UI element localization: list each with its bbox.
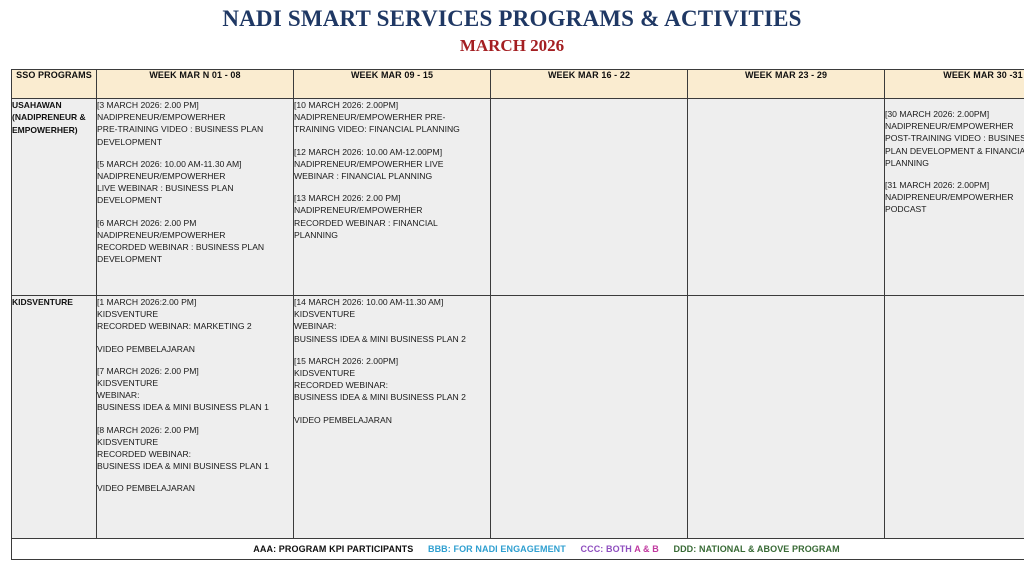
cell-usahawan-week-5: [30 MARCH 2026: 2.00PM] NADIPRENEUR/EMPO… <box>885 99 1024 296</box>
cell-entry: VIDEO PEMBELAJARAN <box>97 482 293 494</box>
page-title: NADI SMART SERVICES PROGRAMS & ACTIVITIE… <box>0 6 1024 32</box>
table-head: SSO PROGRAMS WEEK MAR N 01 - 08 WEEK MAR… <box>12 70 1024 99</box>
row-label-usahawan: USAHAWAN (NADIPRENEUR & EMPOWERHER) <box>12 99 97 296</box>
cell-kidsventure-week-1: [1 MARCH 2026:2.00 PM] KIDSVENTURE RECOR… <box>97 296 294 539</box>
cell-entry: [8 MARCH 2026: 2.00 PM] KIDSVENTURE RECO… <box>97 424 293 473</box>
cell-entry: [3 MARCH 2026: 2.00 PM] NADIPRENEUR/EMPO… <box>97 99 293 148</box>
cell-entry: [15 MARCH 2026: 2.00PM] KIDSVENTURE RECO… <box>294 355 490 404</box>
legend: AAA: PROGRAM KPI PARTICIPANTS BBB: FOR N… <box>253 544 839 554</box>
legend-item-ddd: DDD: NATIONAL & ABOVE PROGRAM <box>673 544 839 554</box>
cell-entry: [12 MARCH 2026: 10.00 AM-12.00PM] NADIPR… <box>294 146 490 183</box>
cell-entry: [10 MARCH 2026: 2.00PM] NADIPRENEUR/EMPO… <box>294 99 490 136</box>
cell-entry: [30 MARCH 2026: 2.00PM] NADIPRENEUR/EMPO… <box>885 99 1024 169</box>
calendar-page: NADI SMART SERVICES PROGRAMS & ACTIVITIE… <box>0 0 1024 576</box>
legend-item-ccc-value: A & B <box>634 544 659 554</box>
cell-entry: [6 MARCH 2026: 2.00 PM NADIPRENEUR/EMPOW… <box>97 217 293 266</box>
legend-item-bbb: BBB: FOR NADI ENGAGEMENT <box>428 544 566 554</box>
cell-entry: [5 MARCH 2026: 10.00 AM-11.30 AM] NADIPR… <box>97 158 293 207</box>
table-body: USAHAWAN (NADIPRENEUR & EMPOWERHER) [3 M… <box>12 99 1024 560</box>
cell-kidsventure-week-3 <box>491 296 688 539</box>
schedule-table-wrapper: SSO PROGRAMS WEEK MAR N 01 - 08 WEEK MAR… <box>11 69 1013 560</box>
page-subtitle: MARCH 2026 <box>0 36 1024 56</box>
column-header-week-2: WEEK MAR 09 - 15 <box>294 70 491 99</box>
legend-cell: AAA: PROGRAM KPI PARTICIPANTS BBB: FOR N… <box>12 539 1024 560</box>
cell-entry: [13 MARCH 2026: 2.00 PM] NADIPRENEUR/EMP… <box>294 192 490 241</box>
cell-kidsventure-week-4 <box>688 296 885 539</box>
cell-usahawan-week-3 <box>491 99 688 296</box>
table-header-row: SSO PROGRAMS WEEK MAR N 01 - 08 WEEK MAR… <box>12 70 1024 99</box>
cell-kidsventure-week-5 <box>885 296 1024 539</box>
cell-entry: [14 MARCH 2026: 10.00 AM-11.30 AM] KIDSV… <box>294 296 490 345</box>
cell-kidsventure-week-2: [14 MARCH 2026: 10.00 AM-11.30 AM] KIDSV… <box>294 296 491 539</box>
table-row: USAHAWAN (NADIPRENEUR & EMPOWERHER) [3 M… <box>12 99 1024 296</box>
legend-item-aaa: AAA: PROGRAM KPI PARTICIPANTS <box>253 544 413 554</box>
legend-item-ccc-label: CCC: BOTH <box>581 544 632 554</box>
column-header-week-5: WEEK MAR 30 -31 <box>885 70 1024 99</box>
cell-usahawan-week-2: [10 MARCH 2026: 2.00PM] NADIPRENEUR/EMPO… <box>294 99 491 296</box>
column-header-week-4: WEEK MAR 23 - 29 <box>688 70 885 99</box>
legend-item-ccc: CCC: BOTH A & B <box>581 544 659 554</box>
cell-usahawan-week-1: [3 MARCH 2026: 2.00 PM] NADIPRENEUR/EMPO… <box>97 99 294 296</box>
cell-usahawan-week-4 <box>688 99 885 296</box>
schedule-table: SSO PROGRAMS WEEK MAR N 01 - 08 WEEK MAR… <box>11 69 1024 560</box>
cell-entry: VIDEO PEMBELAJARAN <box>97 343 293 355</box>
column-header-week-3: WEEK MAR 16 - 22 <box>491 70 688 99</box>
table-row: KIDSVENTURE [1 MARCH 2026:2.00 PM] KIDSV… <box>12 296 1024 539</box>
cell-entry: [7 MARCH 2026: 2.00 PM] KIDSVENTURE WEBI… <box>97 365 293 414</box>
cell-entry: VIDEO PEMBELAJARAN <box>294 414 490 426</box>
column-header-sso-programs: SSO PROGRAMS <box>12 70 97 99</box>
row-label-kidsventure: KIDSVENTURE <box>12 296 97 539</box>
legend-row: AAA: PROGRAM KPI PARTICIPANTS BBB: FOR N… <box>12 539 1024 560</box>
title-block: NADI SMART SERVICES PROGRAMS & ACTIVITIE… <box>0 0 1024 56</box>
column-header-week-1: WEEK MAR N 01 - 08 <box>97 70 294 99</box>
cell-entry: [1 MARCH 2026:2.00 PM] KIDSVENTURE RECOR… <box>97 296 293 333</box>
cell-entry: [31 MARCH 2026: 2.00PM] NADIPRENEUR/EMPO… <box>885 179 1024 216</box>
